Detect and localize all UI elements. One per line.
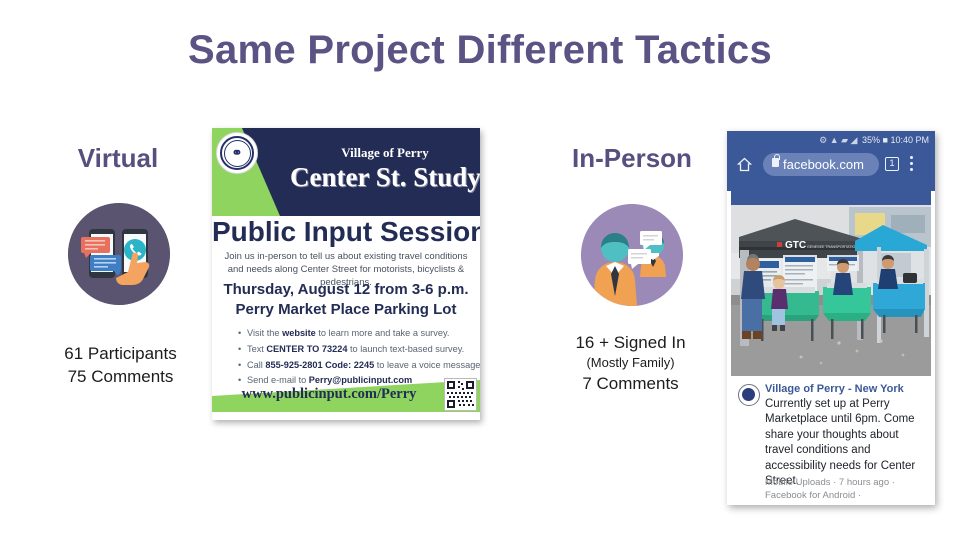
- column-heading-virtual: Virtual: [28, 143, 208, 174]
- village-of-perry-seal-icon: ⚭: [216, 132, 258, 174]
- page-avatar: [738, 384, 760, 406]
- virtual-participants: 61 Participants: [64, 344, 176, 363]
- page-title: Same Project Different Tactics: [0, 28, 960, 73]
- facebook-post: Village of Perry - New York Currently se…: [731, 376, 931, 501]
- home-icon[interactable]: [737, 157, 752, 172]
- poster-location: Perry Market Place Parking Lot: [212, 301, 480, 318]
- tab-count-button[interactable]: 1: [885, 157, 899, 171]
- in-person-stats: 16 + Signed In (Mostly Family) 7 Comment…: [528, 331, 733, 396]
- post-page-name[interactable]: Village of Perry - New York: [765, 383, 925, 395]
- in-person-comments: 7 Comments: [582, 374, 678, 393]
- battery-level: 35%: [862, 135, 880, 145]
- url-text: facebook.com: [783, 153, 879, 176]
- status-icons: ⚙ ▲ ▰ ◢: [819, 135, 857, 145]
- two-phones-chat-icon: [68, 203, 170, 305]
- virtual-comments: 75 Comments: [68, 367, 174, 386]
- poster-session-title: Public Input Session: [212, 216, 480, 248]
- clock: 10:40 PM: [890, 135, 929, 145]
- address-bar[interactable]: facebook.com: [763, 153, 879, 176]
- event-tent-photo: GTC GENESEE TRANSPORTATION COUNCIL: [731, 191, 931, 376]
- public-input-session-poster: ⚭ Village of Perry Center St. Study Publ…: [212, 128, 480, 420]
- svg-text:GTC: GTC: [785, 240, 806, 251]
- column-heading-in-person: In-Person: [538, 143, 726, 174]
- post-meta-source: Facebook for Android ·: [765, 490, 931, 498]
- post-body-text: Currently set up at Perry Marketplace un…: [765, 397, 927, 489]
- in-person-note: (Mostly Family): [528, 354, 733, 372]
- poster-study-title: Center St. Study: [290, 162, 480, 193]
- poster-bullet-2: Text CENTER TO 73224 to launch text-base…: [238, 342, 480, 358]
- qr-code-icon: [444, 378, 477, 411]
- poster-bullet-3: Call 855-925-2801 Code: 2245 to leave a …: [238, 358, 480, 374]
- in-person-signed-in: 16 + Signed In: [575, 333, 685, 352]
- poster-url: www.publicinput.com/Perry: [212, 386, 446, 403]
- virtual-stats: 61 Participants 75 Comments: [18, 342, 223, 389]
- overflow-menu-icon[interactable]: [910, 156, 914, 172]
- post-meta: Mobile Uploads · 7 hours ago ·: [765, 477, 931, 488]
- lock-icon: [772, 158, 779, 167]
- poster-bullet-1: Visit the website to learn more and take…: [238, 326, 480, 342]
- two-people-speech-bubbles-icon: [581, 204, 683, 306]
- poster-date-time: Thursday, August 12 from 3-6 p.m.: [212, 281, 480, 298]
- facebook-mobile-screenshot: ⚙ ▲ ▰ ◢ 35% ■ 10:40 PM facebook.com 1: [727, 131, 935, 505]
- phone-status-bar: ⚙ ▲ ▰ ◢ 35% ■ 10:40 PM: [819, 133, 929, 147]
- poster-village-line: Village of Perry: [290, 145, 480, 161]
